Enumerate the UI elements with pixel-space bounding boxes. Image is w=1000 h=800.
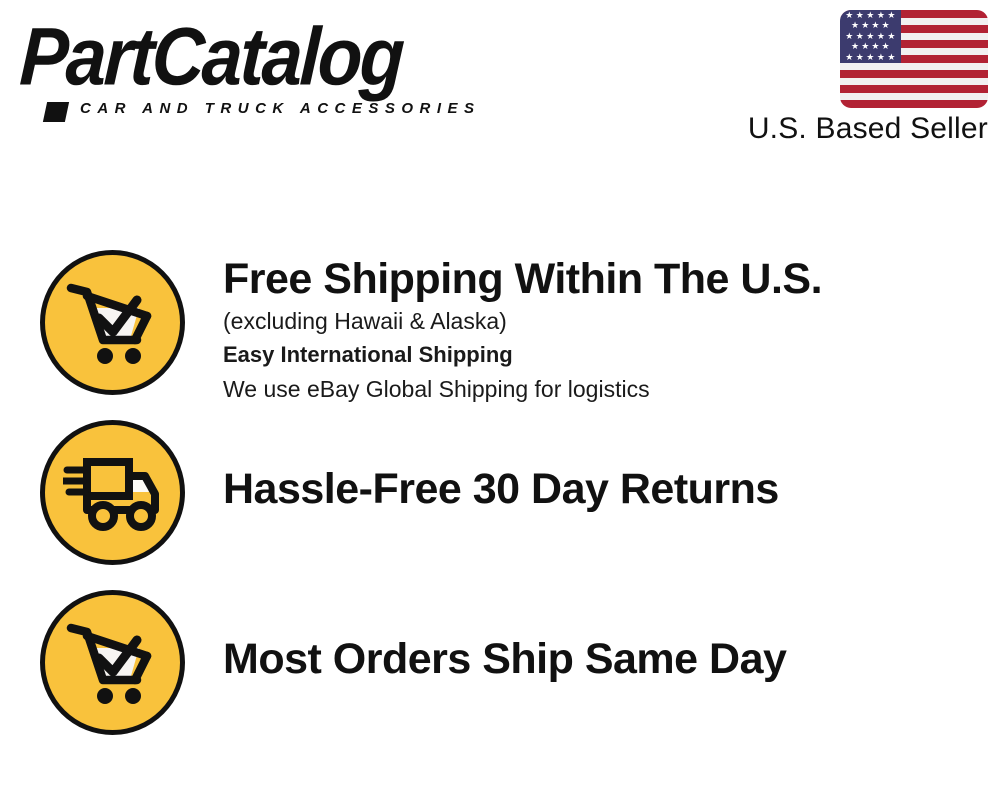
flag-stripe <box>840 78 988 86</box>
us-flag-icon: ★ ★ ★ ★ ★ ★ ★ ★ ★ ★ ★ ★ ★ ★ <box>840 10 988 108</box>
feature-subline: Easy International Shipping <box>223 338 822 372</box>
star-icon: ★ <box>882 42 890 51</box>
feature-row: Hassle-Free 30 Day Returns <box>40 420 970 565</box>
feature-title: Most Orders Ship Same Day <box>223 634 786 684</box>
star-icon: ★ <box>871 42 879 51</box>
flag-stripe <box>840 93 988 101</box>
feature-subline: We use eBay Global Shipping for logistic… <box>223 372 822 406</box>
flag-star-row: ★ ★ ★ ★ <box>840 42 901 53</box>
star-icon: ★ <box>861 21 869 30</box>
star-icon: ★ <box>882 21 890 30</box>
star-icon: ★ <box>877 32 885 41</box>
star-icon: ★ <box>887 53 895 62</box>
star-icon: ★ <box>866 53 874 62</box>
star-icon: ★ <box>866 11 874 20</box>
flag-star-row: ★ ★ ★ ★ ★ <box>840 31 901 42</box>
star-icon: ★ <box>877 11 885 20</box>
star-icon: ★ <box>845 11 853 20</box>
flag-star-row: ★ ★ ★ ★ ★ <box>840 10 901 21</box>
star-icon: ★ <box>887 32 895 41</box>
flag-star-row: ★ ★ ★ ★ ★ <box>840 52 901 63</box>
flag-stripe <box>840 100 988 108</box>
feature-text-block: Most Orders Ship Same Day <box>223 590 786 684</box>
flag-star-row: ★ ★ ★ ★ <box>840 21 901 32</box>
flag-canton: ★ ★ ★ ★ ★ ★ ★ ★ ★ ★ ★ ★ ★ ★ <box>840 10 901 63</box>
feature-text-block: Hassle-Free 30 Day Returns <box>223 420 779 514</box>
feature-icon-badge <box>40 420 185 565</box>
feature-subline: (excluding Hawaii & Alaska) <box>223 304 822 338</box>
star-icon: ★ <box>861 42 869 51</box>
star-icon: ★ <box>851 21 859 30</box>
flag-stripe <box>840 85 988 93</box>
star-icon: ★ <box>887 11 895 20</box>
feature-row: Most Orders Ship Same Day <box>40 590 970 735</box>
feature-row: Free Shipping Within The U.S. (excluding… <box>40 250 970 406</box>
feature-title: Hassle-Free 30 Day Returns <box>223 464 779 514</box>
star-icon: ★ <box>845 32 853 41</box>
shopping-cart-check-icon <box>65 618 161 708</box>
delivery-truck-icon <box>63 454 163 532</box>
seller-badge-label: U.S. Based Seller <box>718 112 988 146</box>
shopping-cart-check-icon <box>65 278 161 368</box>
brand-logo[interactable]: PartCatalog CAR AND TRUCK ACCESSORIES <box>22 14 492 114</box>
star-icon: ★ <box>856 32 864 41</box>
feature-text-block: Free Shipping Within The U.S. (excluding… <box>223 250 822 406</box>
brand-wordmark: PartCatalog <box>18 14 492 101</box>
flag-stripe <box>840 70 988 78</box>
star-icon: ★ <box>845 53 853 62</box>
star-icon: ★ <box>866 32 874 41</box>
star-icon: ★ <box>856 11 864 20</box>
flag-stripe <box>840 63 988 71</box>
star-icon: ★ <box>851 42 859 51</box>
page-header: PartCatalog CAR AND TRUCK ACCESSORIES ★ … <box>0 0 1000 170</box>
feature-icon-badge <box>40 250 185 395</box>
feature-icon-badge <box>40 590 185 735</box>
brand-tagline-rule <box>43 102 69 122</box>
star-icon: ★ <box>877 53 885 62</box>
seller-badge: ★ ★ ★ ★ ★ ★ ★ ★ ★ ★ ★ ★ ★ ★ <box>718 10 988 146</box>
feature-title: Free Shipping Within The U.S. <box>223 254 822 304</box>
star-icon: ★ <box>856 53 864 62</box>
star-icon: ★ <box>871 21 879 30</box>
brand-tagline: CAR AND TRUCK ACCESSORIES <box>80 100 481 117</box>
